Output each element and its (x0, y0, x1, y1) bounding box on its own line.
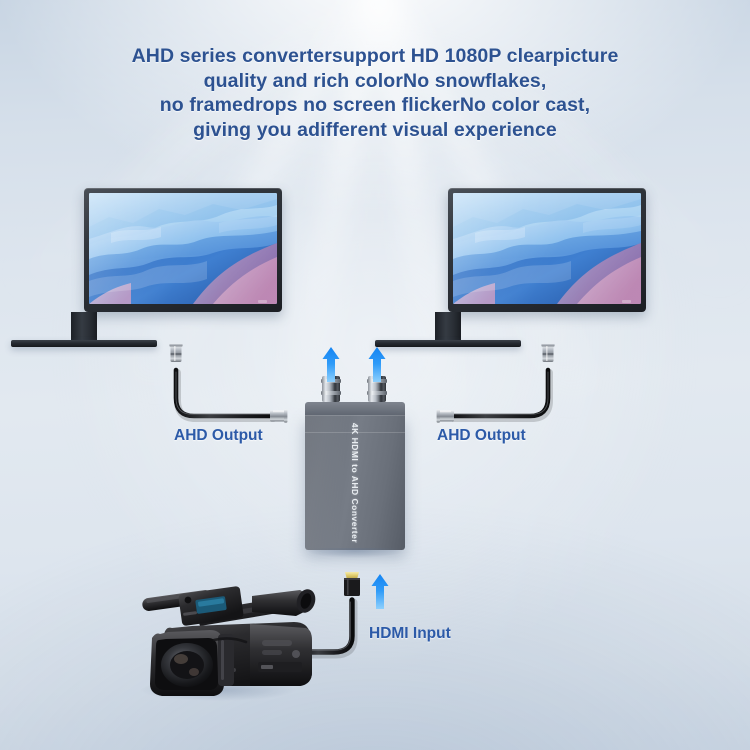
right-monitor-wallpaper (453, 193, 641, 304)
left-monitor-stand-neck (71, 312, 97, 343)
label-ahd-output-right: AHD Output (437, 427, 526, 445)
left-monitor-wallpaper (89, 193, 277, 304)
page-title: AHD series convertersupport HD 1080P cle… (0, 44, 750, 142)
left-monitor-stand-base (11, 340, 157, 347)
device-model-label: 4K HDMI to AHD Converter (350, 422, 360, 542)
bnc-jack-left (322, 376, 340, 402)
label-hdmi-input: HDMI Input (369, 625, 451, 643)
device-drop-shadow (308, 548, 402, 558)
right-monitor-stand-base (375, 340, 521, 347)
device-body: 4K HDMI to AHD Converter (305, 415, 405, 550)
converter-device: 4K HDMI to AHD Converter (305, 402, 405, 550)
right-monitor-logo (622, 300, 631, 303)
headline-line-2: quality and rich colorNo snowflakes, (0, 69, 750, 94)
left-monitor-bezel (84, 188, 282, 312)
device-seam-line (305, 432, 405, 433)
right-monitor-bezel (448, 188, 646, 312)
product-diagram-canvas: AHD series convertersupport HD 1080P cle… (0, 0, 750, 750)
left-monitor-screen (89, 193, 277, 304)
right-monitor-screen (453, 193, 641, 304)
left-monitor-logo (258, 300, 267, 303)
headline-line-3: no framedrops no screen flickerNo color … (0, 93, 750, 118)
right-monitor-stand-neck (435, 312, 461, 343)
headline-line-4: giving you adifferent visual experience (0, 118, 750, 143)
label-ahd-output-left: AHD Output (174, 427, 263, 445)
bnc-jack-right (368, 376, 386, 402)
headline-line-1: AHD series convertersupport HD 1080P cle… (0, 44, 750, 69)
